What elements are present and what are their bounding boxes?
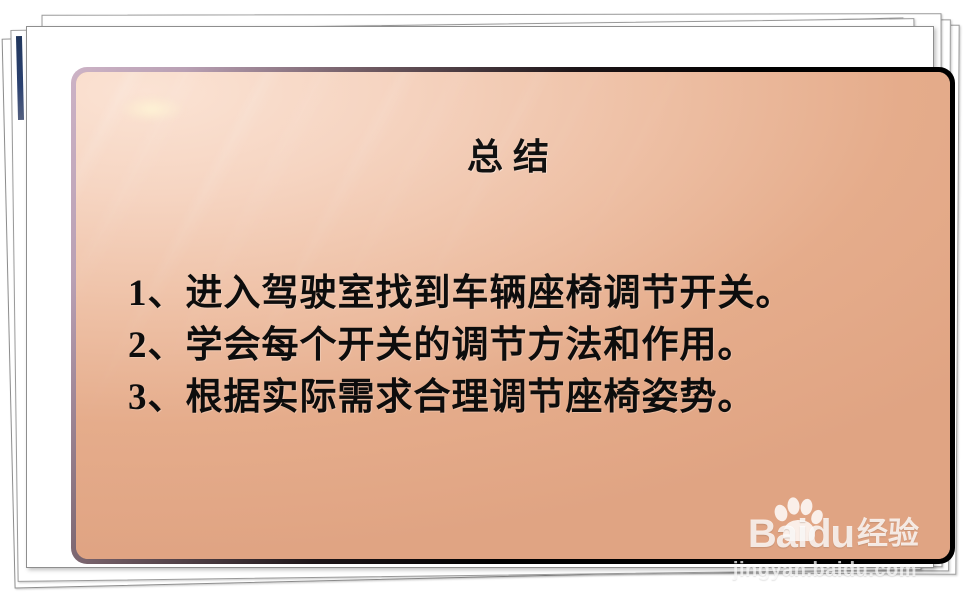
watermark-brand-latin: Baidu [748, 513, 854, 555]
slide-card: 总结 1、进入驾驶室找到车辆座椅调节开关。 2、学会每个开关的调节方法和作用。 … [26, 26, 934, 568]
bullet-item-3: 3、根据实际需求合理调节座椅姿势。 [128, 372, 920, 424]
baidu-watermark: Baidu 经验 jingyan.baidu.com [677, 513, 927, 599]
bullet-item-2: 2、学会每个开关的调节方法和作用。 [128, 320, 920, 372]
watermark-brand-cn: 经验 [857, 513, 919, 555]
watermark-host: Baidu 经验 jingyan.baidu.com [633, 451, 933, 561]
slide-viewer: 总结 1、进入驾驶室找到车辆座椅调节开关。 2、学会每个开关的调节方法和作用。 … [0, 0, 970, 591]
bullet-item-1: 1、进入驾驶室找到车辆座椅调节开关。 [128, 268, 920, 320]
slide-title: 总结 [76, 128, 950, 180]
bullet-list: 1、进入驾驶室找到车辆座椅调节开关。 2、学会每个开关的调节方法和作用。 3、根… [128, 268, 920, 424]
watermark-logo-row: Baidu 经验 [748, 513, 919, 555]
paw-print-icon [771, 497, 823, 541]
